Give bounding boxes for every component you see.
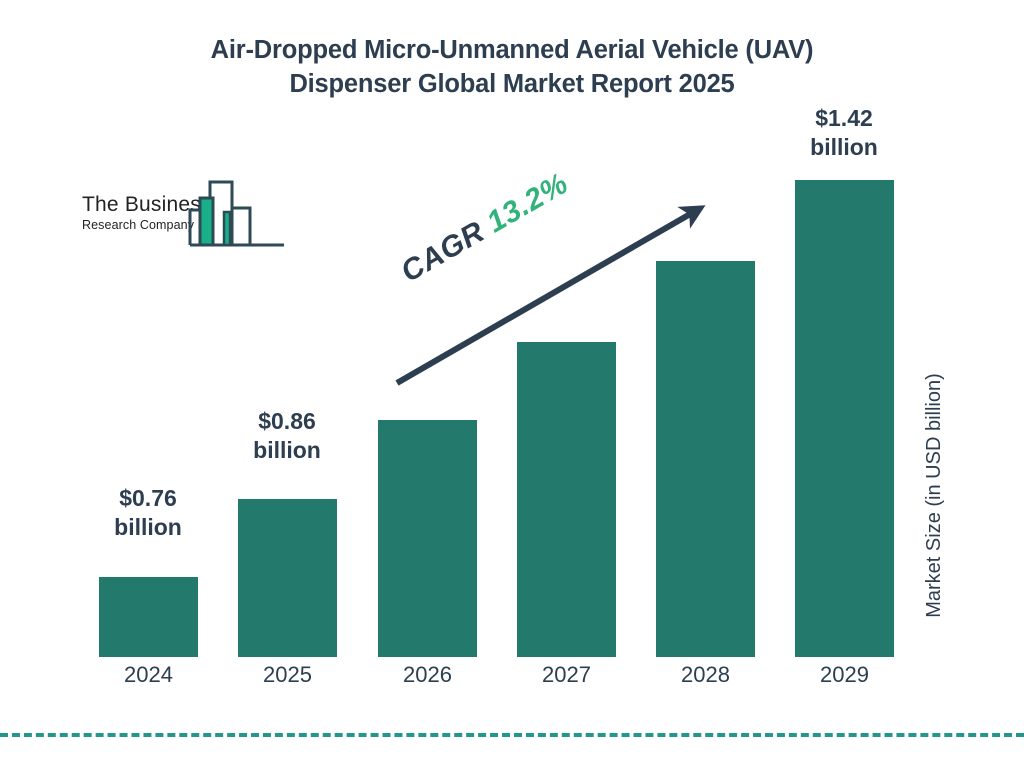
y-axis-title: Market Size (in USD billion) xyxy=(920,335,948,655)
x-tick-2029: 2029 xyxy=(795,662,894,688)
bar-2029[interactable] xyxy=(795,180,894,657)
cagr-label: CAGR xyxy=(396,215,491,289)
bar-chart: $0.76 billion $0.86 billion $1.42 billio… xyxy=(0,0,1024,768)
cagr-annotation: CAGR 13.2% xyxy=(396,167,575,290)
x-tick-2026: 2026 xyxy=(378,662,477,688)
bar-2028[interactable] xyxy=(656,261,755,657)
cagr-value: 13.2% xyxy=(481,167,573,239)
value-amount-2025: $0.86 xyxy=(222,407,352,436)
x-tick-2024: 2024 xyxy=(99,662,198,688)
bar-2025[interactable] xyxy=(238,499,337,657)
x-tick-2027: 2027 xyxy=(517,662,616,688)
value-label-2025: $0.86 billion xyxy=(222,407,352,466)
value-label-2029: $1.42 billion xyxy=(779,104,909,163)
value-unit-2029: billion xyxy=(779,133,909,162)
y-axis-title-text: Market Size (in USD billion) xyxy=(923,373,946,618)
bar-2024[interactable] xyxy=(99,577,198,657)
value-unit-2024: billion xyxy=(83,513,213,542)
footer-divider xyxy=(0,733,1024,737)
x-tick-2025: 2025 xyxy=(238,662,337,688)
value-amount-2024: $0.76 xyxy=(83,484,213,513)
value-amount-2029: $1.42 xyxy=(779,104,909,133)
x-tick-2028: 2028 xyxy=(656,662,755,688)
value-unit-2025: billion xyxy=(222,436,352,465)
bar-2026[interactable] xyxy=(378,420,477,657)
bar-2027[interactable] xyxy=(517,342,616,657)
value-label-2024: $0.76 billion xyxy=(83,484,213,543)
